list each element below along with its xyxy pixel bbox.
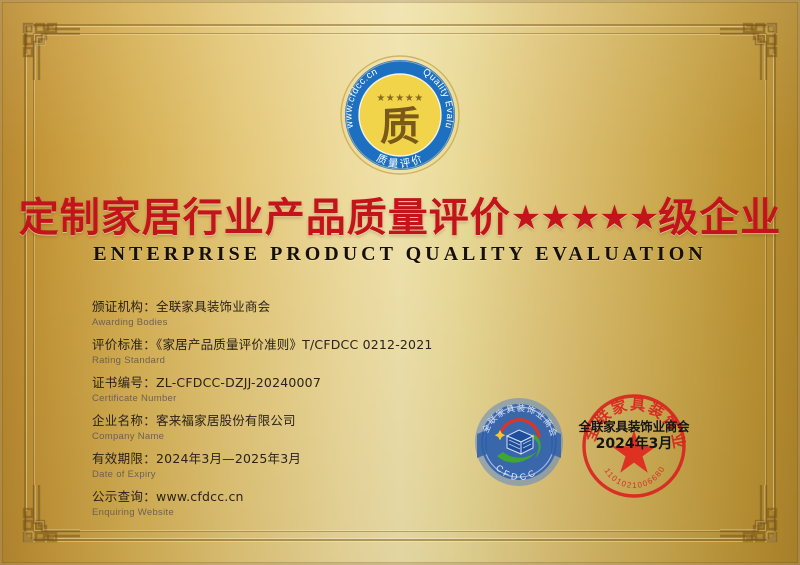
title-cn-after: 级企业 <box>658 195 781 241</box>
field-value: 2024年3月—2025年3月 <box>156 451 301 466</box>
field-company-name: 企业名称：客来福家居股份有限公司 Company Name <box>92 413 512 443</box>
field-sublabel: Certificate Number <box>92 392 512 405</box>
field-sublabel: Company Name <box>92 430 512 443</box>
field-rating-standard: 评价标准：《家居产品质量评价准则》T/CFDCC 0212-2021 Ratin… <box>92 337 512 367</box>
page-subtitle: ENTERPRISE PRODUCT QUALITY EVALUATION <box>0 243 800 266</box>
field-sublabel: Rating Standard <box>92 354 512 367</box>
corner-ornament-bottom-right <box>718 483 780 545</box>
field-date-of-expiry: 有效期限：2024年3月—2025年3月 Date of Expiry <box>92 451 512 481</box>
quality-evaluation-emblem: www.cfdcc.cn Quality Evaluation 质量评价 ★★★… <box>337 52 463 178</box>
svg-text:1101021006680: 1101021006680 <box>602 464 667 490</box>
field-sublabel: Date of Expiry <box>92 468 512 481</box>
field-value: ZL-CFDCC-DZJJ-20240007 <box>156 375 321 390</box>
page-title: 定制家居行业产品质量评价★★★★★级企业 <box>0 185 800 243</box>
title-cn-before: 定制家居行业产品质量评价 <box>19 195 511 241</box>
field-label: 企业名称： <box>92 413 156 428</box>
field-value: 《家居产品质量评价准则》T/CFDCC 0212-2021 <box>156 337 433 352</box>
field-certificate-number: 证书编号：ZL-CFDCC-DZJJ-20240007 Certificate … <box>92 375 512 405</box>
svg-text:质: 质 <box>380 104 420 150</box>
corner-ornament-top-left <box>20 20 82 82</box>
field-sublabel: Enquiring Website <box>92 506 512 519</box>
field-label: 评价标准： <box>92 337 156 352</box>
field-value[interactable]: www.cfdcc.cn <box>156 489 244 504</box>
svg-text:★★★★★: ★★★★★ <box>376 93 423 104</box>
field-label: 证书编号： <box>92 375 156 390</box>
certificate-plaque: www.cfdcc.cn Quality Evaluation 质量评价 ★★★… <box>0 0 800 565</box>
field-awarding-bodies: 颁证机构：全联家具装饰业商会 Awarding Bodies <box>92 299 512 329</box>
official-red-stamp: 全联家具装饰业商会 1101021006680 <box>578 390 690 502</box>
corner-ornament-top-right <box>718 20 780 82</box>
field-enquiring-website: 公示查询：www.cfdcc.cn Enquiring Website <box>92 489 512 519</box>
title-star-rating: ★★★★★ <box>511 198 658 238</box>
field-label: 颁证机构： <box>92 299 156 314</box>
field-sublabel: Awarding Bodies <box>92 316 512 329</box>
corner-ornament-bottom-left <box>20 483 82 545</box>
field-label: 公示查询： <box>92 489 156 504</box>
field-value: 客来福家居股份有限公司 <box>156 413 296 428</box>
certificate-details: 颁证机构：全联家具装饰业商会 Awarding Bodies 评价标准：《家居产… <box>92 299 512 527</box>
field-label: 有效期限： <box>92 451 156 466</box>
cfdcc-logo: 全联家具装饰业商会 CFDCC <box>473 396 565 488</box>
field-value: 全联家具装饰业商会 <box>156 299 270 314</box>
